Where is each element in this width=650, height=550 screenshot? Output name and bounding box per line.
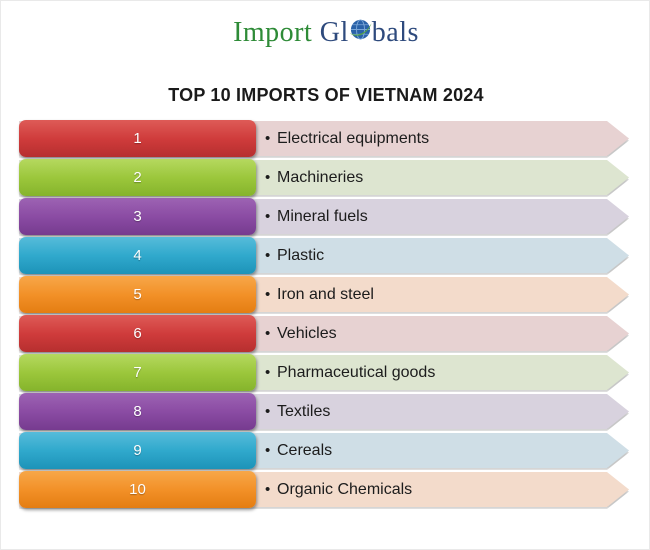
rank-number: 2	[133, 170, 141, 185]
item-label: Plastic	[277, 247, 324, 265]
list-item[interactable]: 8•Textiles	[1, 393, 650, 432]
list-item[interactable]: 6•Vehicles	[1, 315, 650, 354]
bullet-icon: •	[265, 443, 277, 458]
rank-number: 5	[133, 287, 141, 302]
infographic-page: Import Gl bals TOP 10 IMPORTS OF VIETNAM…	[0, 0, 650, 550]
item-label: Vehicles	[277, 325, 337, 343]
item-label-wrap: •Machineries	[265, 159, 363, 196]
item-label: Iron and steel	[277, 286, 374, 304]
item-label-wrap: •Iron and steel	[265, 276, 374, 313]
rank-number: 10	[129, 482, 146, 497]
bullet-icon: •	[265, 170, 277, 185]
bullet-icon: •	[265, 248, 277, 263]
rank-number: 4	[133, 248, 141, 263]
bullet-icon: •	[265, 326, 277, 341]
item-label-wrap: •Pharmaceutical goods	[265, 354, 435, 391]
bullet-icon: •	[265, 287, 277, 302]
rank-chip[interactable]: 6	[19, 315, 256, 352]
top-imports-list: 1•Electrical equipments2•Machineries3•Mi…	[1, 120, 650, 510]
rank-chip[interactable]: 1	[19, 120, 256, 157]
list-item[interactable]: 1•Electrical equipments	[1, 120, 650, 159]
rank-chip[interactable]: 5	[19, 276, 256, 313]
list-item[interactable]: 4•Plastic	[1, 237, 650, 276]
bullet-icon: •	[265, 365, 277, 380]
rank-chip[interactable]: 9	[19, 432, 256, 469]
item-label-wrap: •Vehicles	[265, 315, 337, 352]
bullet-icon: •	[265, 209, 277, 224]
rank-chip[interactable]: 10	[19, 471, 256, 508]
item-label-wrap: •Mineral fuels	[265, 198, 368, 235]
rank-chip[interactable]: 7	[19, 354, 256, 391]
brand-logo: Import Gl bals	[1, 17, 650, 49]
list-item[interactable]: 3•Mineral fuels	[1, 198, 650, 237]
bullet-icon: •	[265, 131, 277, 146]
item-label-wrap: •Electrical equipments	[265, 120, 429, 157]
item-label: Machineries	[277, 169, 363, 187]
item-label-wrap: •Textiles	[265, 393, 330, 430]
globe-icon	[349, 18, 372, 41]
item-label: Textiles	[277, 403, 330, 421]
page-title: TOP 10 IMPORTS OF VIETNAM 2024	[1, 85, 650, 106]
list-item[interactable]: 7•Pharmaceutical goods	[1, 354, 650, 393]
rank-number: 8	[133, 404, 141, 419]
list-item[interactable]: 5•Iron and steel	[1, 276, 650, 315]
rank-chip[interactable]: 4	[19, 237, 256, 274]
item-label: Mineral fuels	[277, 208, 368, 226]
bullet-icon: •	[265, 404, 277, 419]
item-label: Organic Chemicals	[277, 481, 412, 499]
list-item[interactable]: 2•Machineries	[1, 159, 650, 198]
item-label: Electrical equipments	[277, 130, 429, 148]
rank-number: 3	[133, 209, 141, 224]
logo-text-gl: Gl	[320, 17, 349, 48]
list-item[interactable]: 10•Organic Chemicals	[1, 471, 650, 510]
item-label-wrap: •Plastic	[265, 237, 324, 274]
item-label: Pharmaceutical goods	[277, 364, 435, 382]
list-item[interactable]: 9•Cereals	[1, 432, 650, 471]
rank-chip[interactable]: 8	[19, 393, 256, 430]
rank-number: 1	[133, 131, 141, 146]
rank-number: 6	[133, 326, 141, 341]
logo-text-import: Import	[233, 17, 312, 48]
rank-number: 9	[133, 443, 141, 458]
rank-chip[interactable]: 2	[19, 159, 256, 196]
item-label: Cereals	[277, 442, 332, 460]
item-label-wrap: •Organic Chemicals	[265, 471, 412, 508]
logo-text-bals: bals	[372, 17, 419, 48]
item-label-wrap: •Cereals	[265, 432, 332, 469]
bullet-icon: •	[265, 482, 277, 497]
rank-number: 7	[133, 365, 141, 380]
rank-chip[interactable]: 3	[19, 198, 256, 235]
